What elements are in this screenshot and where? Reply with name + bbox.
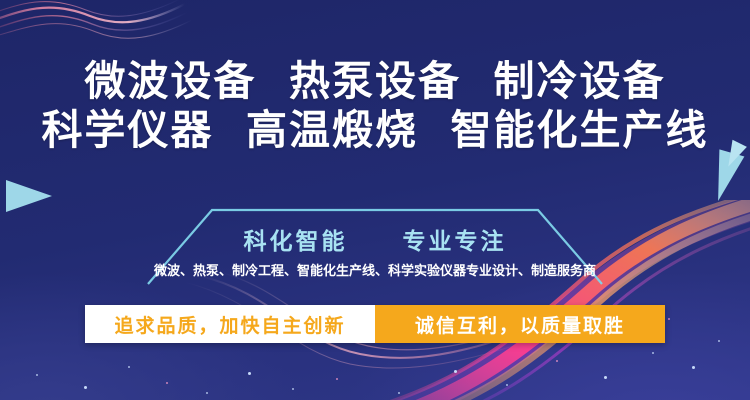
mid-title: 科化智能 专业专注 (0, 222, 750, 256)
headline: 微波设备 热泵设备 制冷设备 科学仪器 高温煅烧 智能化生产线 (0, 58, 750, 153)
slogan-bars: 追求品质，加快自主创新 诚信互利，以质量取胜 (85, 305, 665, 343)
headline-line-2: 科学仪器 高温煅烧 智能化生产线 (0, 107, 750, 154)
mid-subtitle: 微波、热泵、制冷工程、智能化生产线、科学实验仪器专业设计、制造服务商 (0, 260, 750, 279)
slogan-bar-left[interactable]: 追求品质，加快自主创新 (85, 305, 375, 343)
mid-block: 科化智能 专业专注 微波、热泵、制冷工程、智能化生产线、科学实验仪器专业设计、制… (0, 204, 750, 296)
headline-line-1: 微波设备 热泵设备 制冷设备 (0, 58, 750, 105)
slogan-bar-right[interactable]: 诚信互利，以质量取胜 (375, 305, 665, 343)
promo-banner: 微波设备 热泵设备 制冷设备 科学仪器 高温煅烧 智能化生产线 科化智能 专业专… (0, 0, 750, 400)
